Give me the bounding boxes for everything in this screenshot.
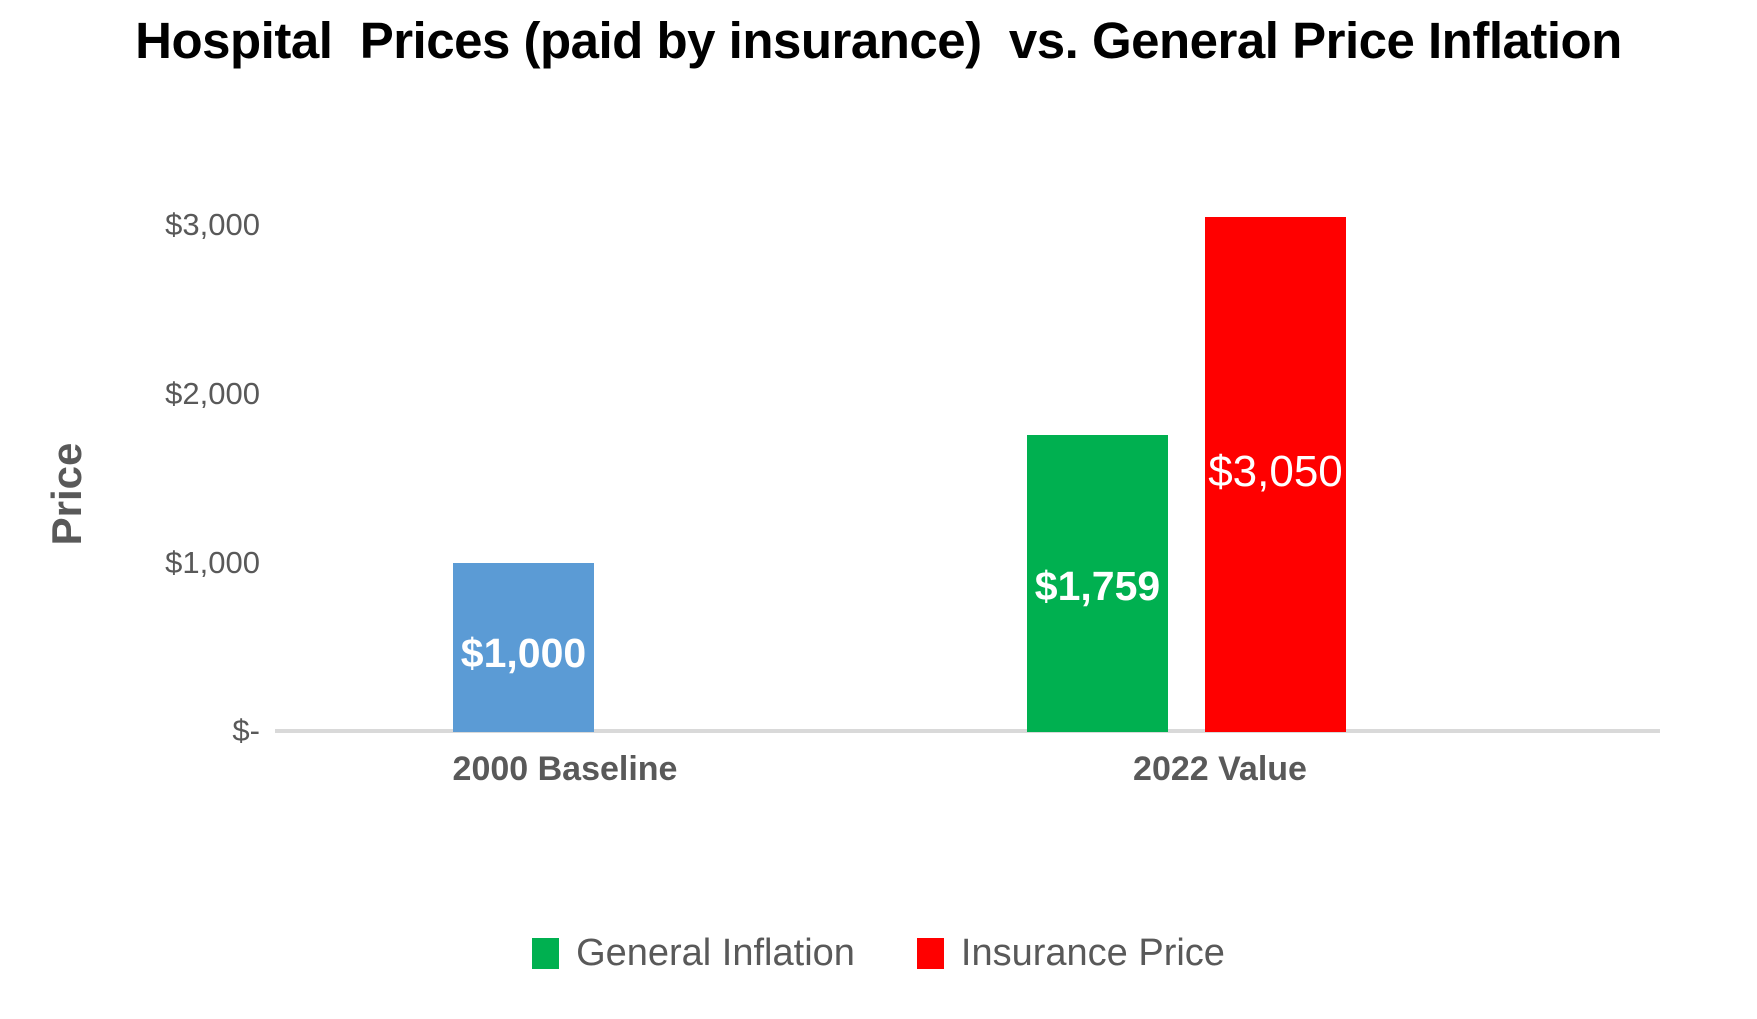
- bar-label-baseline: $1,000: [453, 630, 594, 677]
- bar-general-inflation[interactable]: $1,759: [1027, 435, 1168, 732]
- y-axis-tick-labels: $3,000 $2,000 $1,000 $-: [80, 180, 260, 732]
- bar-label-general-inflation: $1,759: [1027, 563, 1168, 610]
- legend-swatch-red-icon: [917, 938, 944, 969]
- x-category-label-1: 2022 Value: [1000, 750, 1440, 789]
- bar-chart: Hospital Prices (paid by insurance) vs. …: [0, 0, 1757, 1019]
- y-tick-1000: $1,000: [80, 545, 260, 581]
- legend-label-general-inflation: General Inflation: [576, 932, 855, 975]
- bar-insurance-price[interactable]: $3,050: [1205, 217, 1346, 732]
- y-tick-2000: $2,000: [80, 376, 260, 412]
- y-tick-3000: $3,000: [80, 207, 260, 243]
- x-category-label-0: 2000 Baseline: [345, 750, 785, 789]
- chart-title: Hospital Prices (paid by insurance) vs. …: [0, 12, 1757, 71]
- legend-item-general-inflation[interactable]: General Inflation: [532, 932, 855, 975]
- chart-legend: General Inflation Insurance Price: [0, 932, 1757, 975]
- legend-label-insurance-price: Insurance Price: [961, 932, 1225, 975]
- plot-area: $1,000 $1,759 $3,050: [275, 180, 1660, 732]
- y-tick-0: $-: [80, 713, 260, 749]
- bar-baseline[interactable]: $1,000: [453, 563, 594, 732]
- bar-label-insurance-price: $3,050: [1205, 447, 1346, 497]
- legend-item-insurance-price[interactable]: Insurance Price: [917, 932, 1225, 975]
- legend-swatch-green-icon: [532, 938, 559, 969]
